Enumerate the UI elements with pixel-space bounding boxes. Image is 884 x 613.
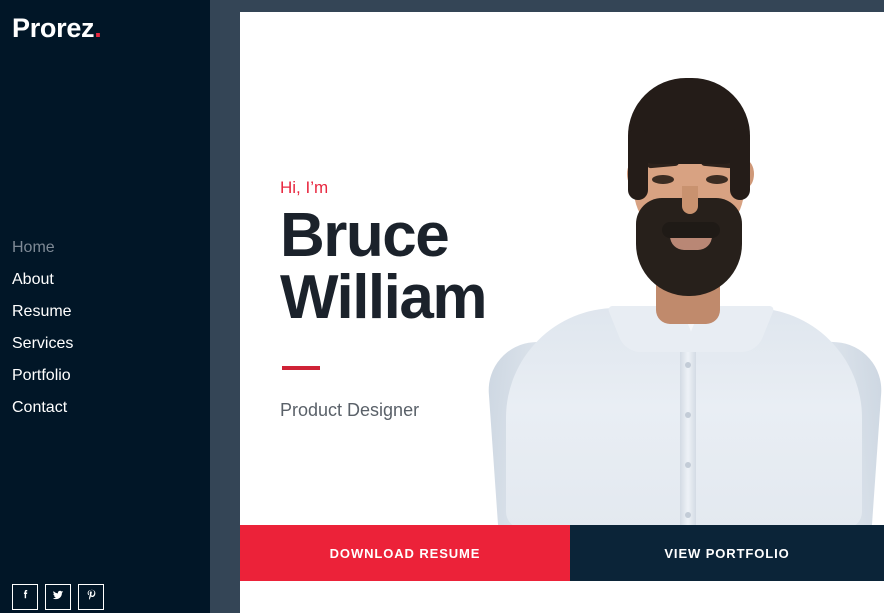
photo-shirt-button bbox=[685, 412, 691, 418]
hero-last-name: William bbox=[280, 267, 580, 329]
photo-eye-left bbox=[652, 175, 674, 184]
twitter-icon bbox=[51, 588, 65, 607]
sidebar-item-home[interactable]: Home bbox=[0, 232, 210, 264]
sidebar-item-contact[interactable]: Contact bbox=[0, 392, 210, 424]
main-navigation: Home About Resume Services Portfolio Con… bbox=[0, 232, 210, 424]
photo-eye-right bbox=[706, 175, 728, 184]
card-footer bbox=[240, 581, 884, 613]
hero-greeting: Hi, I’m bbox=[280, 177, 580, 199]
photo-shirt-placket bbox=[680, 322, 696, 525]
facebook-link[interactable] bbox=[12, 584, 38, 610]
photo-shirt-button bbox=[685, 462, 691, 468]
photo-hair-side-right bbox=[730, 128, 750, 200]
twitter-link[interactable] bbox=[45, 584, 71, 610]
social-links bbox=[12, 584, 104, 610]
hero-text-block: Hi, I’m Bruce William Product Designer bbox=[280, 177, 580, 422]
cta-button-row: DOWNLOAD RESUME VIEW PORTFOLIO bbox=[240, 525, 884, 581]
pinterest-icon bbox=[85, 588, 98, 606]
view-portfolio-button[interactable]: VIEW PORTFOLIO bbox=[570, 525, 884, 581]
pinterest-link[interactable] bbox=[78, 584, 104, 610]
sidebar-item-about[interactable]: About bbox=[0, 264, 210, 296]
sidebar: Prorez. Home About Resume Services Portf… bbox=[0, 0, 210, 613]
app-root: Prorez. Home About Resume Services Portf… bbox=[0, 0, 884, 613]
sidebar-item-resume[interactable]: Resume bbox=[0, 296, 210, 328]
photo-moustache bbox=[662, 222, 720, 238]
sidebar-item-services[interactable]: Services bbox=[0, 328, 210, 360]
photo-nose bbox=[682, 186, 698, 214]
hero-first-name: Bruce bbox=[280, 205, 580, 267]
photo-hair-side-left bbox=[628, 128, 648, 200]
brand-logo-dot: . bbox=[94, 13, 101, 43]
photo-shirt-button bbox=[685, 512, 691, 518]
facebook-icon bbox=[19, 588, 32, 606]
brand-logo[interactable]: Prorez. bbox=[12, 12, 101, 44]
accent-divider bbox=[282, 366, 320, 370]
hero-section: Hi, I’m Bruce William Product Designer bbox=[240, 12, 884, 525]
photo-shirt-button bbox=[685, 362, 691, 368]
brand-logo-text: Prorez bbox=[12, 13, 94, 43]
hero-role: Product Designer bbox=[280, 398, 580, 422]
content-card: Hi, I’m Bruce William Product Designer D… bbox=[240, 12, 884, 613]
sidebar-item-portfolio[interactable]: Portfolio bbox=[0, 360, 210, 392]
download-resume-button[interactable]: DOWNLOAD RESUME bbox=[240, 525, 570, 581]
